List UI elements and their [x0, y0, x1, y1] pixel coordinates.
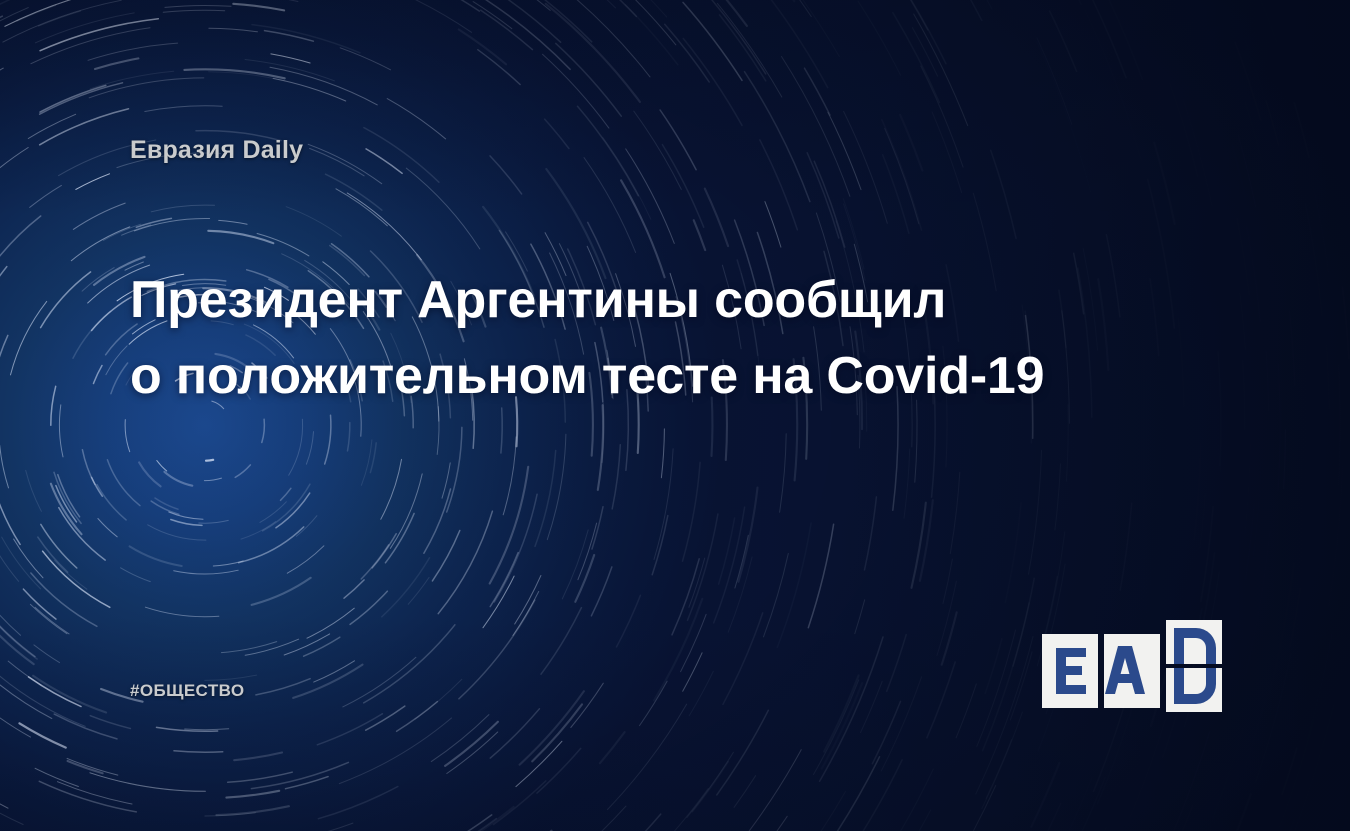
card-content: Евразия Daily Президент Аргентины сообщи…: [0, 0, 1350, 831]
news-card: Евразия Daily Президент Аргентины сообщи…: [0, 0, 1350, 831]
category-tag[interactable]: #ОБЩЕСТВО: [130, 681, 244, 701]
eadaily-logo[interactable]: [1042, 620, 1222, 712]
headline-line-1: Президент Аргентины сообщил: [130, 262, 1140, 338]
logo-letter-e: [1056, 648, 1086, 694]
headline-line-2: о положительном тесте на Covid-19: [130, 338, 1140, 414]
site-brand: Евразия Daily: [130, 136, 303, 165]
headline: Президент Аргентины сообщил о положитель…: [130, 262, 1140, 415]
